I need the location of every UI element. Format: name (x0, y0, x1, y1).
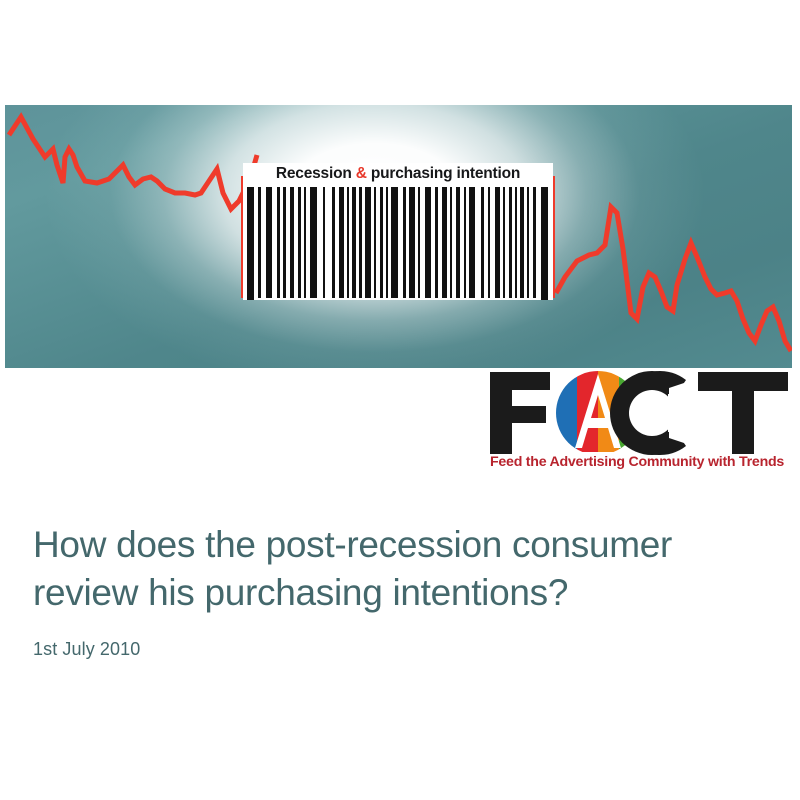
fact-wordmark (488, 368, 794, 454)
logo-tagline: Feed the Advertising Community with Tren… (490, 454, 794, 470)
barcode-title: Recession & purchasing intention (243, 165, 553, 183)
trend-line-left (9, 117, 257, 209)
page-title: How does the post-recession consumer rev… (33, 521, 763, 617)
barcode-title-suffix: purchasing intention (367, 165, 520, 182)
barcode-title-prefix: Recession (276, 165, 356, 182)
barcode-bars (243, 187, 553, 300)
title-block: How does the post-recession consumer rev… (33, 521, 763, 660)
logo-letter-t (698, 372, 788, 454)
logo-letter-f (490, 372, 550, 454)
slide-date: 1st July 2010 (33, 638, 763, 660)
trend-line-right (556, 207, 791, 351)
fact-logo: Feed the Advertising Community with Tren… (488, 368, 794, 478)
barcode-graphic: Recession & purchasing intention (243, 163, 553, 300)
slide-root: Recession & purchasing intention (0, 0, 800, 800)
barcode-title-ampersand: & (356, 165, 367, 182)
